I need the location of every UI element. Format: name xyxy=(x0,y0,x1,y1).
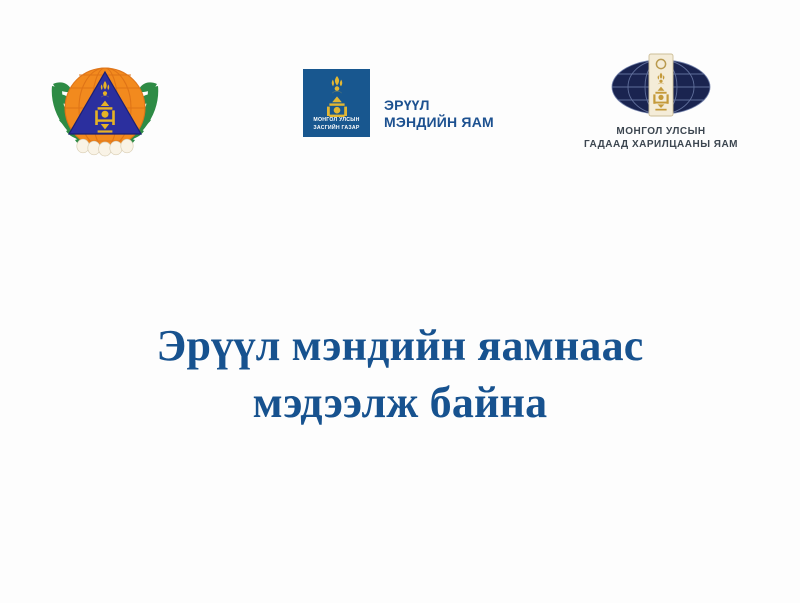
moh-badge-caption-line1: МОНГОЛ УЛСЫН xyxy=(313,117,359,123)
ministry-of-foreign-affairs-name: МОНГОЛ УЛСЫН ГАДААД ХАРИЛЦААНЫ ЯАМ xyxy=(566,125,756,151)
page-title: Эрүүл мэндийн яамнаас мэдээлж байна xyxy=(0,317,800,431)
moh-name-line2: МЭНДИЙН ЯАМ xyxy=(384,114,494,130)
moh-badge-caption: МОНГОЛ УЛСЫН ЗАСГИЙН ГАЗАР xyxy=(303,117,370,132)
slide-canvas: МОНГОЛ УЛСЫН ЗАСГИЙН ГАЗАР ЭРҮҮЛ МЭНДИЙН… xyxy=(0,0,800,603)
ministry-of-health-logo: МОНГОЛ УЛСЫН ЗАСГИЙН ГАЗАР ЭРҮҮЛ МЭНДИЙН… xyxy=(303,69,494,137)
moh-badge: МОНГОЛ УЛСЫН ЗАСГИЙН ГАЗАР xyxy=(303,69,370,137)
moh-name-line1: ЭРҮҮЛ xyxy=(384,97,430,113)
page-title-line2: мэдээлж байна xyxy=(0,374,800,431)
ministry-of-health-name: ЭРҮҮЛ МЭНДИЙН ЯАМ xyxy=(384,97,494,137)
mfa-globe-soyombo-icon xyxy=(566,52,756,123)
page-title-line1: Эрүүл мэндийн яамнаас xyxy=(0,317,800,374)
mongolia-health-emblem-icon xyxy=(40,48,170,160)
mfa-name-line2: ГАДААД ХАРИЛЦААНЫ ЯАМ xyxy=(584,139,738,150)
moh-badge-caption-line2: ЗАСГИЙН ГАЗАР xyxy=(313,125,359,131)
mfa-name-line1: МОНГОЛ УЛСЫН xyxy=(616,126,705,137)
logo-strip: МОНГОЛ УЛСЫН ЗАСГИЙН ГАЗАР ЭРҮҮЛ МЭНДИЙН… xyxy=(0,0,800,175)
soyombo-icon xyxy=(303,75,370,119)
ministry-of-foreign-affairs-logo: МОНГОЛ УЛСЫН ГАДААД ХАРИЛЦААНЫ ЯАМ xyxy=(566,52,756,151)
